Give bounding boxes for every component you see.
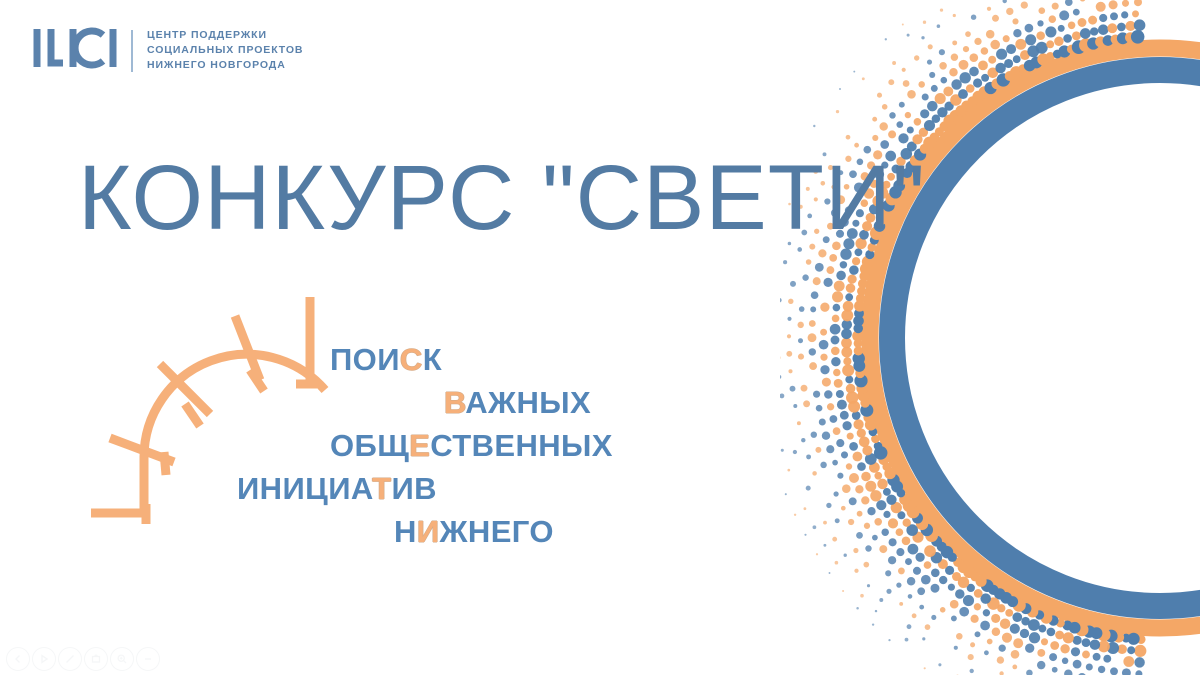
acrostic-key-letter: С xyxy=(400,342,423,377)
page-title: КОНКУРС "СВЕТИ" xyxy=(78,152,926,244)
logo-line-2: СОЦИАЛЬНЫХ ПРОЕКТОВ xyxy=(147,44,303,57)
acrostic-suffix: АЖНЫХ xyxy=(465,385,591,420)
edit-pen-icon[interactable] xyxy=(58,647,82,671)
acrostic-line-1: ПОИСК xyxy=(232,338,752,381)
logo-line-3: НИЖНЕГО НОВГОРОДА xyxy=(147,59,303,72)
acrostic-line-3: ОБЩЕСТВЕННЫХ xyxy=(232,424,752,467)
acrostic-key-letter: В xyxy=(444,385,465,420)
acrostic-line-4: ИНИЦИАТИВ xyxy=(232,467,752,510)
acrostic-line-5: НИЖНЕГО xyxy=(232,510,752,553)
acrostic-prefix: ПОИ xyxy=(330,342,400,377)
image-viewer-toolbar[interactable] xyxy=(6,647,160,671)
logo-divider xyxy=(131,30,133,72)
acrostic-key-letter: Е xyxy=(409,428,430,463)
acrostic-prefix: ОБЩ xyxy=(330,428,409,463)
acrostic-text-block: ПОИСК ВАЖНЫХ ОБЩЕСТВЕННЫХ ИНИЦИАТИВ НИЖН… xyxy=(232,338,752,553)
acrostic-key-letter: Т xyxy=(372,471,391,506)
halftone-ring-decoration xyxy=(780,0,1200,675)
acrostic-prefix: ИНИЦИА xyxy=(237,471,372,506)
acrostic-suffix: ЖНЕГО xyxy=(439,514,553,549)
logo-wordmark: ЦЕНТР ПОДДЕРЖКИ СОЦИАЛЬНЫХ ПРОЕКТОВ НИЖН… xyxy=(147,29,303,72)
rotate-icon[interactable] xyxy=(84,647,108,671)
previous-icon[interactable] xyxy=(6,647,30,671)
presentation-slide: ЦЕНТР ПОДДЕРЖКИ СОЦИАЛЬНЫХ ПРОЕКТОВ НИЖН… xyxy=(0,0,1200,675)
play-icon[interactable] xyxy=(32,647,56,671)
acrostic-line-2: ВАЖНЫХ xyxy=(232,381,752,424)
acrostic-key-letter: И xyxy=(417,514,440,549)
logo-mark-icon xyxy=(33,26,117,75)
organization-logo: ЦЕНТР ПОДДЕРЖКИ СОЦИАЛЬНЫХ ПРОЕКТОВ НИЖН… xyxy=(33,26,303,75)
zoom-out-icon[interactable] xyxy=(136,647,160,671)
logo-line-1: ЦЕНТР ПОДДЕРЖКИ xyxy=(147,29,303,42)
acrostic-suffix: СТВЕННЫХ xyxy=(430,428,613,463)
acrostic-prefix: Н xyxy=(394,514,417,549)
acrostic-suffix: ИВ xyxy=(391,471,436,506)
zoom-in-icon[interactable] xyxy=(110,647,134,671)
acrostic-suffix: К xyxy=(423,342,442,377)
